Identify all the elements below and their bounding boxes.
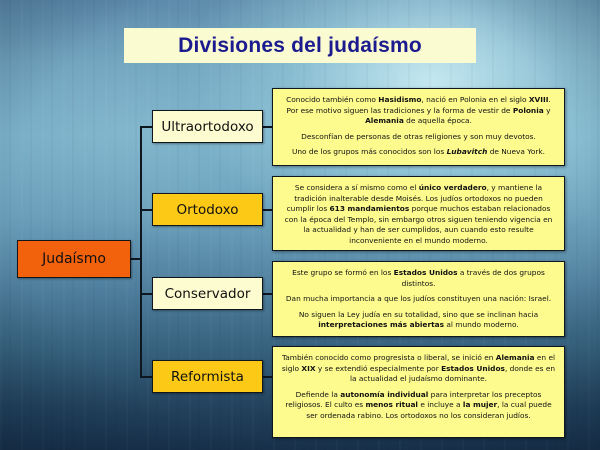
node-conservador: Conservador (152, 277, 263, 310)
title-banner: Divisiones del judaísmo (124, 28, 476, 63)
node-ortodoxo: Ortodoxo (152, 193, 263, 226)
detail-panel-conservador: Este grupo se formó en los Estados Unido… (272, 261, 565, 337)
node-reformista: Reformista (152, 360, 263, 393)
slide-canvas: Divisiones del judaísmo Judaísmo Ultraor… (0, 0, 600, 450)
page-title: Divisiones del judaísmo (178, 34, 422, 58)
node-ortodoxo-label: Ortodoxo (177, 202, 239, 218)
detail-panel-ortodoxo: Se considera a sí mismo como el único ve… (272, 176, 565, 251)
node-ultraortodoxo-label: Ultraortodoxo (161, 119, 253, 135)
detail-panel-reformista: También conocido como progresista o libe… (272, 346, 565, 438)
detail-panel-ultraortodoxo: Conocido también como Hasidismo, nació e… (272, 88, 565, 166)
node-reformista-label: Reformista (171, 369, 244, 385)
node-conservador-label: Conservador (165, 286, 251, 302)
connector-vertical-trunk (140, 126, 142, 377)
node-judaismo-label: Judaísmo (42, 251, 106, 267)
node-ultraortodoxo: Ultraortodoxo (152, 110, 263, 143)
node-judaismo: Judaísmo (17, 240, 131, 278)
